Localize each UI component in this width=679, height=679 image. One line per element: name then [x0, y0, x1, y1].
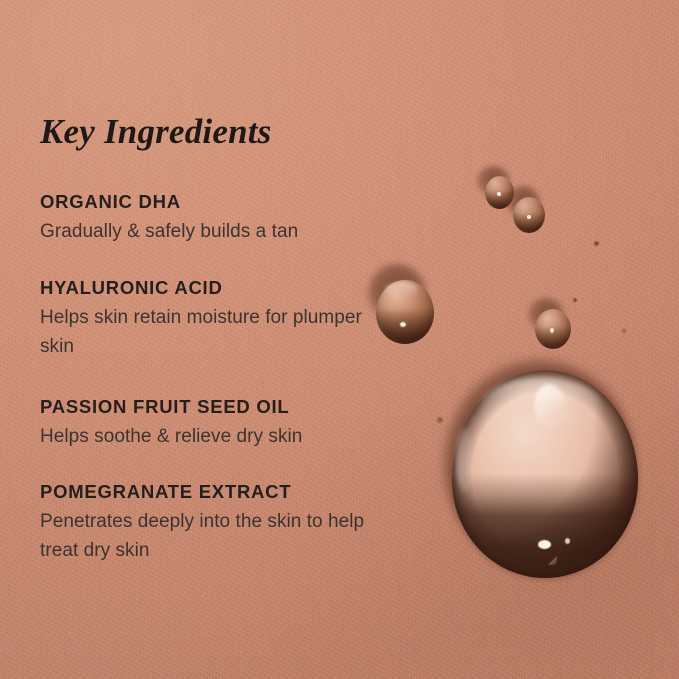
- ingredient-description: Helps skin retain moisture for plumper s…: [40, 303, 400, 361]
- ingredient-description: Penetrates deeply into the skin to help …: [40, 507, 400, 565]
- ingredient-description: Gradually & safely builds a tan: [40, 217, 400, 246]
- ingredient-title: PASSION FRUIT SEED OIL: [40, 396, 400, 418]
- ingredient-description: Helps soothe & relieve dry skin: [40, 422, 400, 451]
- small-water-droplet-right-icon: [528, 298, 578, 358]
- droplet-specular-highlight: [538, 540, 551, 549]
- ingredient-title: ORGANIC DHA: [40, 191, 400, 213]
- ingredient-title: HYALURONIC ACID: [40, 277, 400, 299]
- droplet-specular-highlight: [527, 215, 531, 219]
- ingredient-item-organic-dha: ORGANIC DHA Gradually & safely builds a …: [40, 191, 400, 246]
- surface-speck: [437, 417, 443, 423]
- droplet-specular-highlight: [550, 328, 554, 333]
- surface-speck: [594, 241, 599, 246]
- surface-speck: [573, 298, 577, 302]
- ingredient-item-hyaluronic-acid: HYALURONIC ACID Helps skin retain moistu…: [40, 277, 400, 361]
- droplet-secondary-highlight: [565, 538, 570, 544]
- droplet-left-sheen: [456, 428, 474, 492]
- ingredient-title: POMEGRANATE EXTRACT: [40, 481, 400, 503]
- droplet-specular-highlight: [497, 192, 501, 196]
- droplet-specular-highlight: [400, 322, 406, 327]
- ingredient-item-passion-fruit-seed-oil: PASSION FRUIT SEED OIL Helps soothe & re…: [40, 396, 400, 451]
- page-title: Key Ingredients: [40, 112, 271, 152]
- ingredients-infographic: Key Ingredients ORGANIC DHA Gradually & …: [0, 0, 679, 679]
- surface-speck: [622, 329, 626, 333]
- ingredient-item-pomegranate-extract: POMEGRANATE EXTRACT Penetrates deeply in…: [40, 481, 400, 565]
- small-water-droplet-lower-icon: [506, 186, 550, 238]
- large-water-droplet-icon: [450, 368, 640, 580]
